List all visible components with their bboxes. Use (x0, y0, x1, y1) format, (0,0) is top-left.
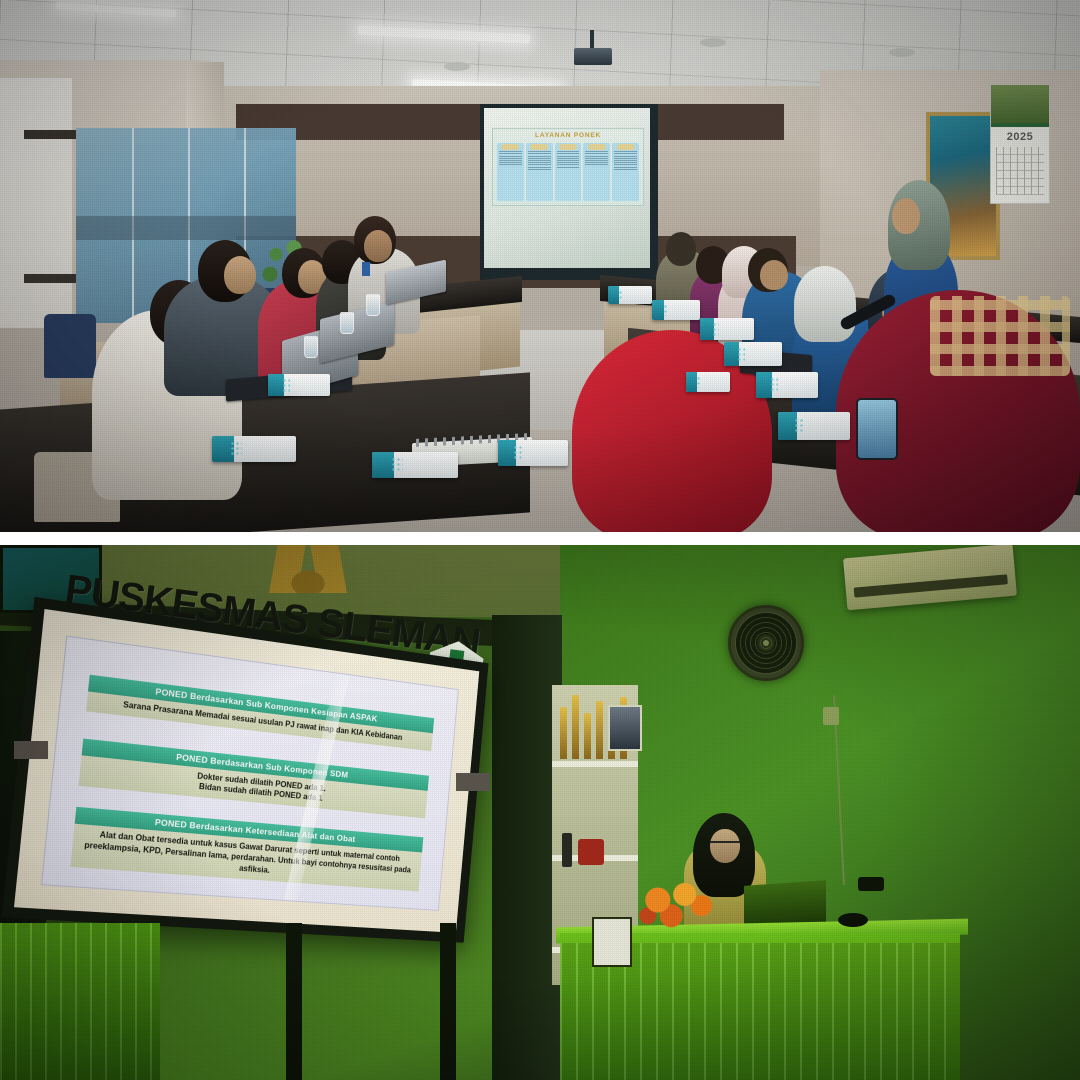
presenter-laptop[interactable] (744, 880, 826, 928)
chair (44, 314, 96, 378)
photo-collage: LAYANAN PONEK (0, 0, 1080, 1080)
side-table-skirt (0, 923, 160, 1080)
column-chip (530, 144, 548, 150)
projected-slide-title: LAYANAN PONEK (493, 132, 643, 139)
desk-pleats (0, 923, 160, 1080)
projected-slide-column (583, 143, 610, 201)
slide-section: PONED Berdasarkan Sub Komponen SDM Dokte… (79, 738, 429, 818)
projected-slide: LAYANAN PONEK (492, 128, 644, 206)
snack-box (724, 342, 782, 366)
ceiling-vent (444, 62, 470, 71)
shelf-ornament (578, 839, 604, 865)
smartphone[interactable] (856, 398, 898, 460)
snack-box (268, 374, 330, 396)
door-kick-bar (24, 274, 76, 283)
top-photo-meeting-room: LAYANAN PONEK (0, 0, 1080, 532)
wall-fan-icon (728, 605, 804, 681)
door-handle-bar (24, 130, 76, 139)
column-chip (588, 144, 606, 150)
ac-vent (854, 574, 1008, 597)
snack-box (212, 436, 296, 462)
ceiling-projector-icon (574, 48, 612, 65)
snack-box (700, 318, 754, 340)
column-text-lines (556, 151, 581, 167)
trophy (584, 713, 591, 759)
column-chip (501, 144, 519, 150)
snack-box (686, 372, 730, 392)
glass-door[interactable] (0, 78, 72, 328)
column-text-lines (613, 151, 638, 170)
shelf-plank (552, 761, 638, 767)
shelf-ornament (562, 833, 572, 867)
snack-box (756, 372, 818, 398)
wall-calendar: 2025 (990, 84, 1050, 204)
column-text-lines (498, 151, 523, 165)
slide-section: PONED Berdasarkan Sub Komponen Kesiapan … (86, 674, 434, 750)
calendar-strip (991, 123, 1049, 127)
slide-section: PONED Berdasarkan Ketersediaan Alat dan … (71, 807, 424, 891)
board-clip (14, 741, 48, 759)
panel-divider (0, 532, 1080, 545)
projected-slide-column (497, 143, 524, 201)
fan-grill (731, 608, 801, 678)
framed-portrait (608, 705, 642, 751)
calendar-date-grid (996, 147, 1044, 195)
calendar-photo (991, 85, 1049, 123)
wall-switch-icon[interactable] (823, 707, 839, 725)
projected-slide-column (555, 143, 582, 201)
snack-box (652, 300, 700, 320)
ceiling-vent (700, 38, 726, 47)
name-plate (592, 917, 632, 967)
wall-socket-icon (858, 877, 884, 891)
snack-box (608, 286, 652, 304)
bottom-photo-puskesmas-hall: PUSKESMAS SLEMAN PONED Berdasarkan Sub K… (0, 545, 1080, 1080)
trophy (560, 707, 567, 759)
ceiling-vent (889, 48, 915, 57)
board-mat: PONED Berdasarkan Sub Komponen Kesiapan … (14, 609, 479, 933)
column-text-lines (584, 151, 609, 165)
fabric-pattern (930, 296, 1070, 376)
board-leg (440, 923, 456, 1080)
garuda-emblem-icon (258, 545, 358, 593)
board-leg (286, 923, 302, 1080)
snack-box (372, 452, 458, 478)
glasses-icon (710, 841, 740, 849)
trophy (596, 701, 603, 759)
calendar-year: 2025 (991, 131, 1049, 143)
column-chip (559, 144, 577, 150)
projector-mount (590, 30, 594, 50)
projected-slide-columns (497, 143, 639, 201)
water-glass (340, 312, 354, 334)
poned-slide: PONED Berdasarkan Sub Komponen Kesiapan … (41, 636, 459, 911)
projected-slide-column (612, 143, 639, 201)
trophy (572, 695, 579, 759)
computer-mouse[interactable] (838, 913, 868, 927)
board-clip (456, 773, 490, 791)
name-badge (362, 262, 370, 276)
snack-box (778, 412, 850, 440)
column-text-lines (527, 151, 552, 170)
snack-box (498, 440, 568, 466)
flower-vase (636, 881, 720, 937)
projected-slide-column (526, 143, 553, 201)
water-glass (366, 294, 380, 316)
column-chip (617, 144, 635, 150)
water-glass (304, 336, 318, 358)
